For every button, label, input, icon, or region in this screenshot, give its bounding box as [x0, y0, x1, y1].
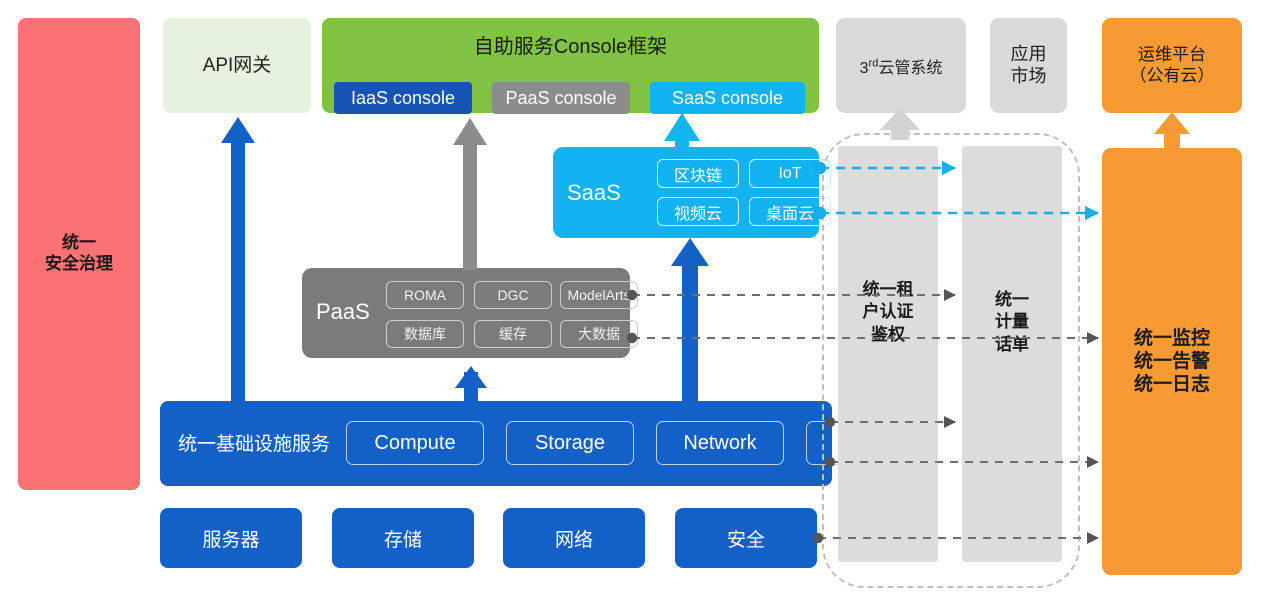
unified-security-governance-panel: 统一 安全治理 [18, 18, 140, 490]
hardware-item-network[interactable]: 网络 [503, 508, 645, 568]
saas-item-video-cloud[interactable]: 视频云 [657, 197, 739, 226]
unified-tenant-auth-label: 统一租 户认证 鉴权 [838, 279, 938, 346]
saas-item-desktop-cloud[interactable]: 桌面云 [749, 197, 831, 226]
app-market-label: 应用 市场 [1011, 44, 1047, 88]
third-party-cloud-mgmt-box: 3rd云管系统 [836, 18, 966, 113]
ops-platform-public-cloud-label: 运维平台 （公有云） [1130, 45, 1215, 86]
unified-tenant-auth-column [838, 146, 938, 562]
saas-item-iot[interactable]: IoT [749, 159, 831, 188]
saas-item-blockchain[interactable]: 区块链 [657, 159, 739, 188]
paas-item-bigdata[interactable]: 大数据 [560, 320, 638, 348]
app-market-box: 应用 市场 [990, 18, 1067, 113]
self-service-console-frame: 自助服务Console框架 IaaS console PaaS console … [322, 18, 819, 113]
unified-monitoring-label: 统一监控 统一告警 统一日志 [1134, 327, 1210, 397]
hardware-item-storage-label: 存储 [384, 525, 422, 552]
unified-infrastructure-title: 统一基础设施服务 [178, 429, 330, 456]
saas-layer-title: SaaS [567, 180, 621, 206]
hardware-item-security-label: 安全 [727, 525, 765, 552]
paas-item-database[interactable]: 数据库 [386, 320, 464, 348]
paas-layer-title: PaaS [316, 299, 370, 325]
paas-item-dgc[interactable]: DGC [474, 281, 552, 309]
infra-item-network[interactable]: Network [656, 421, 784, 465]
arrow-infra-to-saas [671, 238, 709, 406]
saas-layer: SaaS 区块链 IoT 视频云 桌面云 [553, 147, 819, 238]
hardware-item-network-label: 网络 [555, 525, 593, 552]
architecture-diagram: 统一 安全治理 API网关 自助服务Console框架 IaaS console… [0, 0, 1265, 605]
paas-item-modelarts[interactable]: ModelArts [560, 281, 638, 309]
infra-item-compute[interactable]: Compute [346, 421, 484, 465]
arrow-saas-to-console [664, 113, 700, 151]
arrow-infra-to-api-gateway [221, 117, 255, 406]
unified-infrastructure-layer: 统一基础设施服务 Compute Storage Network CCE [160, 401, 832, 486]
infra-item-storage[interactable]: Storage [506, 421, 634, 465]
arrow-paas-to-console [453, 118, 487, 270]
chip-iaas-console[interactable]: IaaS console [334, 82, 472, 114]
third-party-superscript: rd [869, 57, 879, 69]
hardware-item-storage[interactable]: 存储 [332, 508, 474, 568]
chip-saas-console[interactable]: SaaS console [650, 82, 805, 114]
api-gateway-label: API网关 [203, 54, 272, 77]
paas-item-cache[interactable]: 缓存 [474, 320, 552, 348]
arrow-ops-side-to-ops-top [1154, 112, 1190, 150]
ops-platform-public-cloud-box: 运维平台 （公有云） [1102, 18, 1242, 113]
unified-metering-label: 统一 计量 话单 [962, 289, 1062, 356]
api-gateway-box: API网关 [163, 18, 311, 113]
arrow-infra-to-paas [455, 366, 487, 404]
console-frame-title: 自助服务Console框架 [322, 30, 819, 59]
paas-item-roma[interactable]: ROMA [386, 281, 464, 309]
chip-paas-console[interactable]: PaaS console [492, 82, 630, 114]
unified-monitoring-panel: 统一监控 统一告警 统一日志 [1102, 148, 1242, 575]
unified-security-governance-label: 统一 安全治理 [45, 233, 113, 274]
third-party-cloud-mgmt-label: 3rd云管系统 [860, 54, 943, 78]
hardware-item-server[interactable]: 服务器 [160, 508, 302, 568]
paas-layer: PaaS ROMA DGC ModelArts 数据库 缓存 大数据 [302, 268, 630, 358]
hardware-item-security[interactable]: 安全 [675, 508, 817, 568]
hardware-item-server-label: 服务器 [202, 525, 259, 552]
